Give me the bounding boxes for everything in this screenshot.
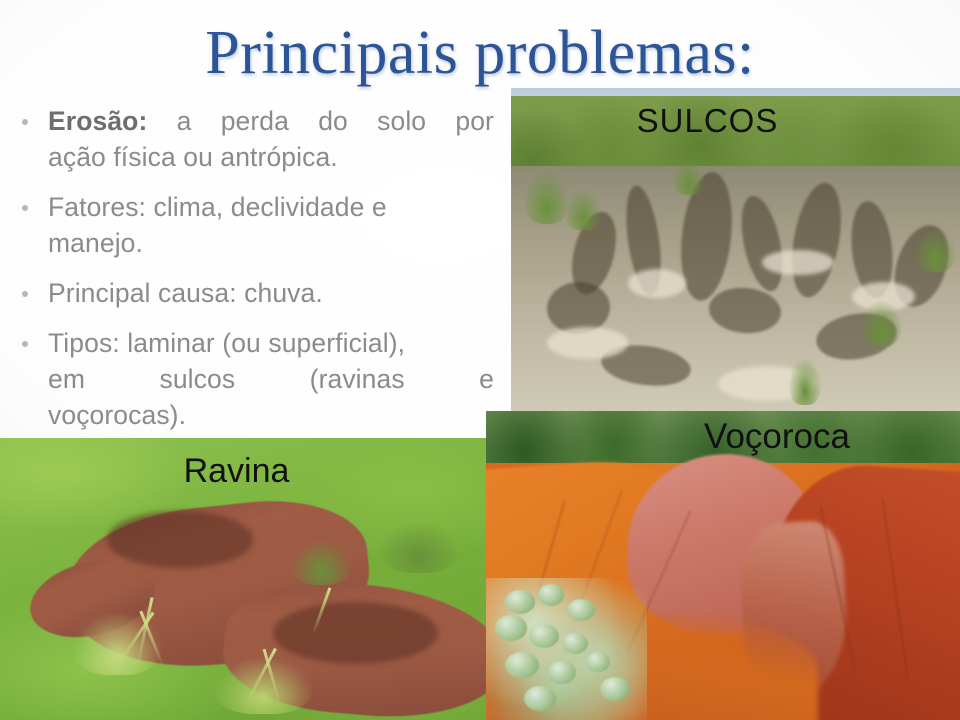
gully-shadow: [107, 511, 253, 567]
bullet-word: e: [479, 361, 494, 397]
bullet-word: do: [318, 103, 348, 139]
bullet-dot-icon: [22, 341, 28, 347]
bullet-word: em: [48, 361, 85, 397]
list-item-tipos: Tipos: laminar (ou superficial), em sulc…: [0, 325, 512, 433]
leaf: [600, 677, 630, 701]
bullet-dot-icon: [22, 119, 28, 125]
photo-ravina[interactable]: Ravina: [0, 438, 487, 720]
list-item-fatores: Fatores: clima, declividade e manejo.: [0, 189, 512, 261]
bullet-word: solo: [377, 103, 426, 139]
bullet-line: voçorocas).: [48, 397, 494, 433]
list-item-erosao: Erosão: a perda do solo por ação física …: [0, 103, 512, 175]
sand-patch: [628, 269, 686, 298]
bullet-line: manejo.: [48, 225, 494, 261]
bullet-dot-icon: [22, 291, 28, 297]
bullet-strong-erosao: Erosão:: [48, 103, 147, 139]
grass-tuft: [915, 230, 955, 272]
grass-tuft: [292, 540, 350, 585]
photo-label-vocoroca: Voçoroca: [540, 417, 960, 457]
bullet-word: a: [177, 103, 192, 139]
photo-label-ravina: Ravina: [0, 452, 480, 491]
photo-sulcos[interactable]: SULCOS: [511, 88, 960, 411]
leaf: [524, 686, 556, 711]
grass-tuft: [861, 301, 901, 346]
leaf: [586, 652, 610, 672]
bullet-line: Principal causa: chuva.: [48, 275, 494, 311]
grass-tuft: [789, 359, 820, 404]
sand-patch: [547, 327, 628, 359]
bullet-line: Fatores: clima, declividade e: [48, 189, 494, 225]
grass-tuft: [524, 172, 569, 224]
leaf: [548, 661, 576, 684]
grass-tuft: [673, 159, 704, 195]
leaf: [505, 652, 539, 678]
bullet-text-tipos: Tipos: laminar (ou superficial), em sulc…: [48, 325, 494, 433]
list-item-causa: Principal causa: chuva.: [0, 275, 512, 311]
leaf: [538, 584, 564, 606]
bullet-list: Erosão: a perda do solo por ação física …: [0, 103, 512, 447]
bullet-text-fatores: Fatores: clima, declividade e manejo.: [48, 189, 494, 261]
page-title: Principais problemas:: [0, 18, 960, 88]
bullet-word: (ravinas: [310, 361, 405, 397]
gully-shadow: [273, 602, 439, 664]
bullet-text-causa: Principal causa: chuva.: [48, 275, 494, 311]
photo-label-sulcos: SULCOS: [511, 102, 932, 140]
sand-patch: [762, 250, 834, 276]
presentation-slide: Principais problemas: SULCOS: [0, 0, 960, 720]
photo-vocoroca[interactable]: Voçoroca: [486, 411, 960, 720]
bullet-word: por: [455, 103, 494, 139]
bullet-text-erosao: Erosão: a perda do solo por ação física …: [48, 103, 494, 175]
bullet-word: sulcos: [159, 361, 235, 397]
bullet-dot-icon: [22, 205, 28, 211]
grass-tuft: [565, 191, 601, 230]
bullet-word: perda: [221, 103, 289, 139]
bullet-line: ação física ou antrópica.: [48, 139, 494, 175]
leaf: [529, 624, 559, 648]
bullet-line: Tipos: laminar (ou superficial),: [48, 325, 494, 361]
grass-tuft: [380, 523, 458, 574]
